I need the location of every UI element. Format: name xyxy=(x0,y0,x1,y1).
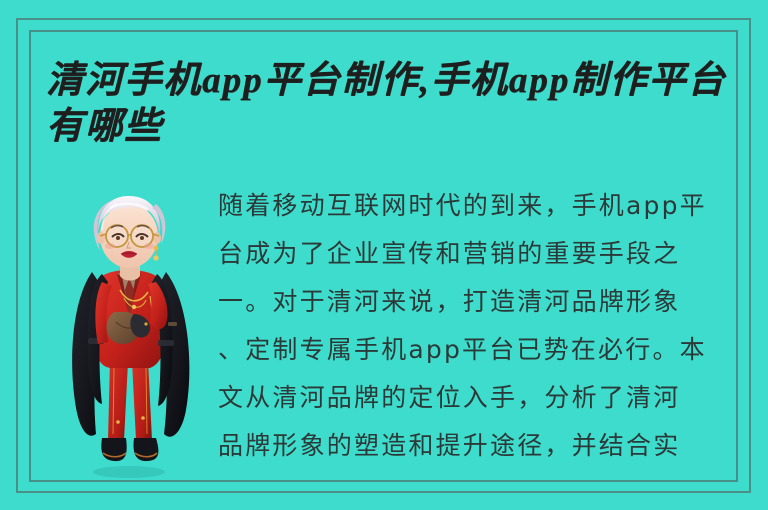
body-line-1: 随着移动互联网时代的到来，手机app平 xyxy=(218,182,740,230)
figure-shadow xyxy=(93,466,165,478)
page-title: 清河手机app平台制作,手机app制作平台 有哪些 xyxy=(46,58,726,150)
trouser-right xyxy=(132,360,152,440)
poster-canvas: 清河手机app平台制作,手机app制作平台 有哪些 xyxy=(0,0,768,510)
body-line-6: 品牌形象的塑造和提升途径，并结合实 xyxy=(218,422,740,470)
title-line-2: 有哪些 xyxy=(46,104,726,150)
body-line-5: 文从清河品牌的定位入手，分析了清河 xyxy=(218,374,740,422)
body-line-2: 台成为了企业宣传和营销的重要手段之 xyxy=(218,230,740,278)
article-body-text: 随着移动互联网时代的到来，手机app平 台成为了企业宣传和营销的重要手段之 一。… xyxy=(218,182,740,492)
trouser-left xyxy=(108,360,128,440)
body-line-3: 一。对于清河来说，打造清河品牌形象 xyxy=(218,278,740,326)
body-line-4: 、定制专属手机app平台已势在必行。本 xyxy=(218,326,740,374)
shoe-left xyxy=(101,438,126,461)
title-line-1: 清河手机app平台制作,手机app制作平台 xyxy=(46,58,726,104)
chibi-character-illustration xyxy=(58,172,200,480)
earring xyxy=(154,246,159,251)
shoe-right xyxy=(134,438,159,461)
